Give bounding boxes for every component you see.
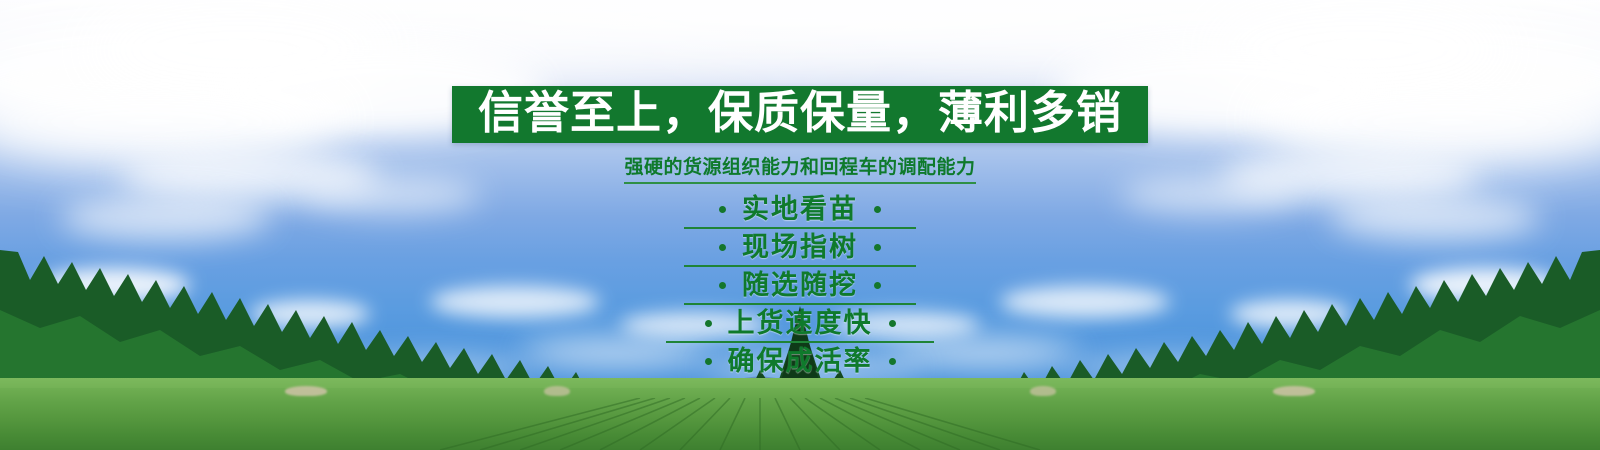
bullet-dot-icon xyxy=(705,358,712,365)
bullet-dot-icon xyxy=(719,206,726,213)
bullet-dot-icon xyxy=(874,206,881,213)
banner-content: 信誉至上，保质保量，薄利多销 强硬的货源组织能力和回程车的调配能力 实地看苗 现… xyxy=(0,0,1600,450)
feature-list: 实地看苗 现场指树 随选随挖 上货速度快 确保成活率 xyxy=(666,196,934,386)
bullet-dot-icon xyxy=(874,282,881,289)
bullet-dot-icon xyxy=(719,244,726,251)
bullet-dot-icon xyxy=(889,320,896,327)
feature-item: 随选随挖 xyxy=(684,272,916,305)
promo-banner: 信誉至上，保质保量，薄利多销 强硬的货源组织能力和回程车的调配能力 实地看苗 现… xyxy=(0,0,1600,450)
feature-label: 确保成活率 xyxy=(728,348,873,375)
feature-label: 现场指树 xyxy=(742,234,858,261)
feature-item: 实地看苗 xyxy=(684,196,916,229)
feature-label: 随选随挖 xyxy=(742,272,858,299)
feature-label: 上货速度快 xyxy=(728,310,873,337)
bullet-dot-icon xyxy=(719,282,726,289)
headline-text: 信誉至上，保质保量，薄利多销 xyxy=(478,90,1122,135)
feature-item: 上货速度快 xyxy=(666,310,934,343)
bullet-dot-icon xyxy=(889,358,896,365)
bullet-dot-icon xyxy=(874,244,881,251)
feature-item: 现场指树 xyxy=(684,234,916,267)
feature-item: 确保成活率 xyxy=(666,348,934,381)
headline-bar: 信誉至上，保质保量，薄利多销 xyxy=(452,86,1148,143)
bullet-dot-icon xyxy=(705,320,712,327)
subtitle-text: 强硬的货源组织能力和回程车的调配能力 xyxy=(624,152,975,184)
feature-label: 实地看苗 xyxy=(742,196,858,223)
